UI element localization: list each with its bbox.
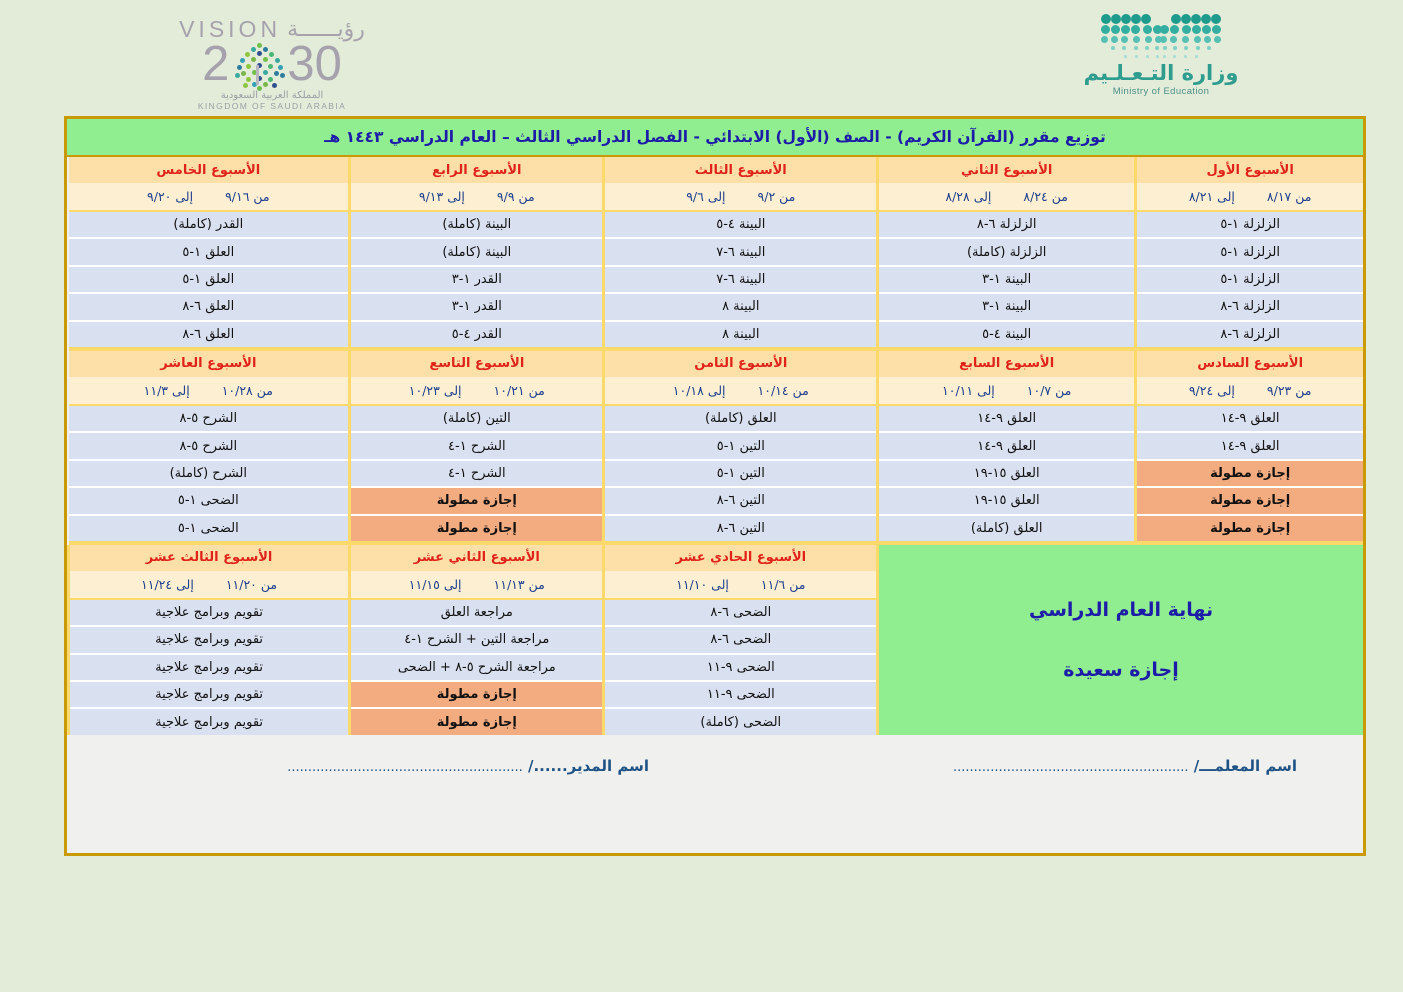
week-header-cell: الأسبوع الأول [1136,157,1363,183]
lesson-cell: الشرح ١-٤ [350,432,604,459]
ministry-dots-icon [1091,12,1231,60]
lesson-cell: العلق ٩-١٤ [1136,432,1363,459]
week-date-to: إلى ٨/٢١ [1173,189,1251,204]
week-date-cell: من ٩/١٦إلى ٩/٢٠ [69,183,350,211]
week-header-cell: الأسبوع السابع [878,351,1136,377]
week-date-cell: من ١١/١٣إلى ١١/١٥ [350,571,604,599]
week-date-cell: من ١٠/٢١إلى ١٠/٢٣ [350,377,604,405]
ministry-name-arabic: وزارة التـعـلـيم [1084,61,1239,85]
lesson-cell: الشرح ٥-٨ [69,405,350,432]
week-header-cell: الأسبوع الخامس [69,157,350,183]
lesson-row: العلق ٩-١٤العلق ٩-١٤العلق (كاملة)التين (… [69,405,1364,432]
holiday-cell: إجازة مطولة [350,708,604,734]
week-date-from: من ١١/٦ [745,577,822,592]
lesson-cell: العلق ٩-١٤ [1136,405,1363,432]
week-header-cell: الأسبوع الثالث عشر [69,545,350,571]
week-date-from: من ٩/٢٣ [1251,383,1328,398]
week-header-cell: الأسبوع التاسع [350,351,604,377]
lesson-cell: العلق ٦-٨ [69,321,350,347]
lesson-cell: العلق ٩-١٤ [878,432,1136,459]
lesson-cell: الشرح ١-٤ [350,460,604,487]
end-of-year-line-2: إجازة سعيدة [879,659,1363,681]
lesson-cell: العلق (كاملة) [604,405,878,432]
week-header-cell: الأسبوع الرابع [350,157,604,183]
vision-subtitle-english: KINGDOM OF SAUDI ARABIA [198,101,346,111]
teacher-name-field[interactable]: اسم المعلمـــ/ .........................… [953,757,1297,775]
week-date-to: إلى ١١/١٥ [393,577,478,592]
lesson-cell: العلق ١٥-١٩ [878,460,1136,487]
week-date-cell: من ٩/٩إلى ٩/١٣ [350,183,604,211]
manager-name-field[interactable]: اسم المدير....../ ......................… [287,757,649,775]
lesson-cell: البينة ٨ [604,293,878,320]
ministry-of-education-logo: وزارة التـعـلـيم Ministry of Education [1056,12,1266,112]
vision-2030-logo: رؤيــــــة VISION 30 2 المملكة العربية ا… [172,14,372,112]
week-date-row: من ٩/٢٣إلى ٩/٢٤من ١٠/٧إلى ١٠/١١من ١٠/١٤إ… [69,377,1364,405]
week-header-row: نهاية العام الدراسيإجازة سعيدةالأسبوع ال… [69,545,1364,571]
lesson-cell: مراجعة العلق [350,599,604,626]
lesson-cell: الضحى ١-٥ [69,515,350,541]
end-of-year-note: نهاية العام الدراسيإجازة سعيدة [878,545,1363,735]
week-date-cell: من ٨/٢٤إلى ٨/٢٨ [878,183,1136,211]
lesson-row: إجازة مطولةالعلق (كاملة)التين ٦-٨إجازة م… [69,515,1364,541]
holiday-cell: إجازة مطولة [350,487,604,514]
ministry-name-english: Ministry of Education [1113,86,1210,97]
week-date-from: من ١٠/٢٨ [206,383,289,398]
week-date-cell: من ١١/٢٠إلى ١١/٢٤ [69,571,350,599]
lesson-cell: الزلزلة ١-٥ [1136,266,1363,293]
lesson-cell: البينة ١-٣ [878,293,1136,320]
lesson-cell: تقويم وبرامج علاجية [69,599,350,626]
week-date-to: إلى ٨/٢٨ [929,189,1007,204]
holiday-cell: إجازة مطولة [1136,515,1363,541]
teacher-name-dotted-line: ........................................… [953,760,1189,775]
lesson-cell: البينة (كاملة) [350,238,604,265]
lesson-cell: مراجعة التين + الشرح ١-٤ [350,626,604,653]
lesson-cell: القدر (كاملة) [69,211,350,238]
lesson-cell: الزلزلة ٦-٨ [1136,293,1363,320]
lesson-cell: الزلزلة ٦-٨ [1136,321,1363,347]
holiday-cell: إجازة مطولة [350,515,604,541]
lesson-cell: الضحى ٩-١١ [604,681,878,708]
week-date-cell: من ١٠/١٤إلى ١٠/١٨ [604,377,878,405]
week-date-from: من ٨/٢٤ [1007,189,1084,204]
week-date-to: إلى ١٠/١٨ [657,383,742,398]
lesson-cell: الزلزلة ١-٥ [1136,238,1363,265]
lesson-cell: الزلزلة (كاملة) [878,238,1136,265]
lesson-cell: البينة ٦-٧ [604,238,878,265]
week-date-to: إلى ٩/٢٠ [131,189,209,204]
lesson-cell: الشرح (كاملة) [69,460,350,487]
lesson-row: الزلزلة ١-٥الزلزلة (كاملة)البينة ٦-٧البي… [69,238,1364,265]
lesson-cell: البينة ٦-٧ [604,266,878,293]
lesson-cell: القدر ١-٣ [350,293,604,320]
vision-number-30: 30 [287,39,342,89]
lesson-row: الزلزلة ٦-٨البينة ١-٣البينة ٨القدر ١-٣ال… [69,293,1364,320]
week-header-cell: الأسبوع الحادي عشر [604,545,878,571]
lesson-cell: تقويم وبرامج علاجية [69,654,350,681]
schedule-table-wrapper: الأسبوع الأولالأسبوع الثانيالأسبوع الثال… [67,157,1363,735]
week-date-cell: من ٩/٢إلى ٩/٦ [604,183,878,211]
week-date-from: من ١٠/١٤ [742,383,825,398]
week-date-from: من ١٠/٢١ [478,383,561,398]
week-date-from: من ١٠/٧ [1011,383,1088,398]
lesson-cell: البينة (كاملة) [350,211,604,238]
lesson-cell: التين (كاملة) [350,405,604,432]
week-date-from: من ١١/٢٠ [210,577,293,592]
week-date-to: إلى ١٠/١١ [926,383,1011,398]
lesson-cell: البينة ٤-٥ [878,321,1136,347]
week-header-cell: الأسبوع الثاني [878,157,1136,183]
week-header-cell: الأسبوع العاشر [69,351,350,377]
lesson-row: إجازة مطولةالعلق ١٥-١٩التين ١-٥الشرح ١-٤… [69,460,1364,487]
week-header-row: الأسبوع الأولالأسبوع الثانيالأسبوع الثال… [69,157,1364,183]
week-date-row: من ٨/١٧إلى ٨/٢١من ٨/٢٤إلى ٨/٢٨من ٩/٢إلى … [69,183,1364,211]
signature-footer: اسم المعلمـــ/ .........................… [67,735,1363,831]
curriculum-distribution-frame: توزيع مقرر (القرآن الكريم) - الصف (الأول… [64,116,1366,856]
document-page: رؤيــــــة VISION 30 2 المملكة العربية ا… [0,0,1403,992]
holiday-cell: إجازة مطولة [1136,460,1363,487]
lesson-cell: العلق ٦-٨ [69,293,350,320]
lesson-row: إجازة مطولةالعلق ١٥-١٩التين ٦-٨إجازة مطو… [69,487,1364,514]
week-header-cell: الأسبوع الثالث [604,157,878,183]
end-of-year-line-1: نهاية العام الدراسي [879,599,1363,621]
week-date-to: إلى ١١/٣ [128,383,206,398]
week-date-from: من ٩/١٦ [209,189,286,204]
week-date-to: إلى ٩/٦ [670,189,741,204]
week-header-cell: الأسبوع الثاني عشر [350,545,604,571]
lesson-cell: القدر ١-٣ [350,266,604,293]
week-date-from: من ٨/١٧ [1251,189,1328,204]
lesson-row: الزلزلة ١-٥البينة ١-٣البينة ٦-٧القدر ١-٣… [69,266,1364,293]
week-date-cell: من ١١/٦إلى ١١/١٠ [604,571,878,599]
vision-logo-number: 30 2 [202,39,342,89]
lesson-cell: الضحى ١-٥ [69,487,350,514]
week-header-row: الأسبوع السادسالأسبوع السابعالأسبوع الثا… [69,351,1364,377]
lesson-cell: التين ٦-٨ [604,515,878,541]
week-date-cell: من ٩/٢٣إلى ٩/٢٤ [1136,377,1363,405]
lesson-cell: تقويم وبرامج علاجية [69,681,350,708]
week-date-cell: من ١٠/٢٨إلى ١١/٣ [69,377,350,405]
week-date-from: من ١١/١٣ [478,577,561,592]
lesson-cell: البينة ٨ [604,321,878,347]
lesson-cell: الضحى ٩-١١ [604,654,878,681]
lesson-cell: تقويم وبرامج علاجية [69,626,350,653]
lesson-cell: تقويم وبرامج علاجية [69,708,350,734]
vision-palm-dots-icon [231,39,285,89]
manager-name-dotted-line: ........................................… [287,760,523,775]
lesson-row: العلق ٩-١٤العلق ٩-١٤التين ١-٥الشرح ١-٤ال… [69,432,1364,459]
week-date-cell: من ١٠/٧إلى ١٠/١١ [878,377,1136,405]
week-date-to: إلى ١١/١٠ [660,577,745,592]
lesson-cell: القدر ٤-٥ [350,321,604,347]
teacher-name-label: اسم المعلمـــ/ [1194,757,1297,775]
week-date-from: من ٩/٩ [481,189,551,204]
manager-name-label: اسم المدير....../ [528,757,649,775]
vision-subtitle-arabic: المملكة العربية السعودية [221,90,324,101]
lesson-cell: العلق ١٥-١٩ [878,487,1136,514]
holiday-cell: إجازة مطولة [1136,487,1363,514]
weekly-schedule-table: الأسبوع الأولالأسبوع الثانيالأسبوع الثال… [67,157,1363,735]
week-header-cell: الأسبوع الثامن [604,351,878,377]
lesson-cell: الضحى ٦-٨ [604,626,878,653]
week-date-to: إلى ١٠/٢٣ [393,383,478,398]
lesson-cell: البينة ٤-٥ [604,211,878,238]
page-title: توزيع مقرر (القرآن الكريم) - الصف (الأول… [324,128,1106,146]
lesson-cell: التين ٦-٨ [604,487,878,514]
lesson-cell: الزلزلة ١-٥ [1136,211,1363,238]
week-date-to: إلى ٩/١٣ [403,189,481,204]
document-title-bar: توزيع مقرر (القرآن الكريم) - الصف (الأول… [67,119,1363,157]
lesson-cell: العلق ١-٥ [69,266,350,293]
lesson-cell: مراجعة الشرح ٥-٨ + الضحى [350,654,604,681]
vision-number-2: 2 [202,39,229,89]
lesson-cell: التين ١-٥ [604,432,878,459]
lesson-cell: الشرح ٥-٨ [69,432,350,459]
week-date-to: إلى ١١/٢٤ [125,577,210,592]
lesson-cell: العلق ٩-١٤ [878,405,1136,432]
holiday-cell: إجازة مطولة [350,681,604,708]
lesson-row: الزلزلة ١-٥الزلزلة ٦-٨البينة ٤-٥البينة (… [69,211,1364,238]
week-date-to: إلى ٩/٢٤ [1173,383,1251,398]
lesson-cell: الزلزلة ٦-٨ [878,211,1136,238]
lesson-cell: العلق ١-٥ [69,238,350,265]
lesson-cell: العلق (كاملة) [878,515,1136,541]
lesson-cell: البينة ١-٣ [878,266,1136,293]
week-date-from: من ٩/٢ [742,189,812,204]
lesson-cell: الضحى (كاملة) [604,708,878,734]
lesson-cell: التين ١-٥ [604,460,878,487]
lesson-cell: الضحى ٦-٨ [604,599,878,626]
week-date-cell: من ٨/١٧إلى ٨/٢١ [1136,183,1363,211]
week-header-cell: الأسبوع السادس [1136,351,1363,377]
lesson-row: الزلزلة ٦-٨البينة ٤-٥البينة ٨القدر ٤-٥ال… [69,321,1364,347]
